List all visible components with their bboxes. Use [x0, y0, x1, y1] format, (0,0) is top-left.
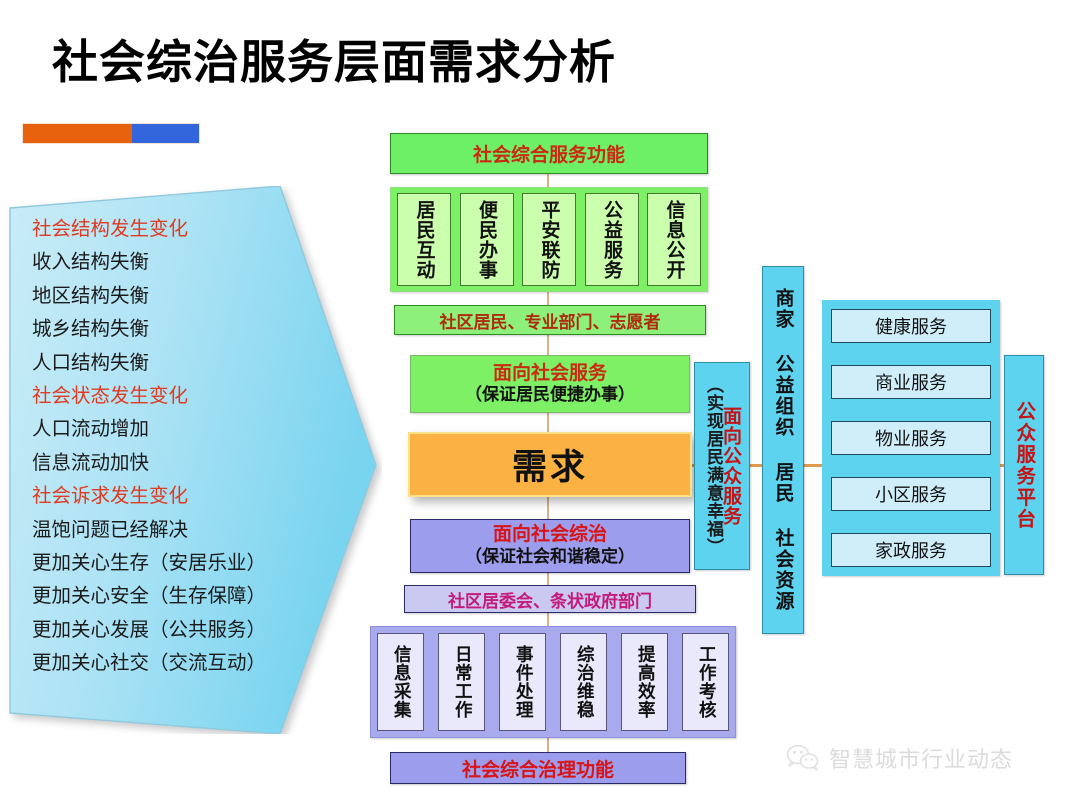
- governance-function-label: 提高效率: [636, 645, 654, 719]
- governance-function-cell[interactable]: 信息采集: [377, 633, 424, 731]
- governance-functions-band: 信息采集 日常工作 事件处理 综治维稳 提高效率 工作考核: [370, 626, 736, 738]
- governance-footer-box: 社会综合治理功能: [390, 752, 686, 784]
- resources-box: 商家 公益组织 居民 社会资源: [762, 266, 804, 634]
- wechat-icon: [786, 744, 820, 772]
- driver-item: 地区结构失衡: [32, 279, 322, 312]
- service-header-box: 社会综合服务功能: [390, 133, 708, 174]
- demand-box: 需求: [408, 432, 692, 497]
- governance-function-label: 工作考核: [697, 645, 715, 719]
- watermark: 智慧城市行业动态: [786, 742, 1013, 774]
- driver-item: 信息流动加快: [32, 446, 322, 479]
- driver-item: 社会诉求发生变化: [32, 479, 322, 512]
- service-function-label: 居民互动: [415, 200, 434, 280]
- public-services-band: 健康服务 商业服务 物业服务 小区服务 家政服务: [822, 300, 1000, 576]
- driver-item: 更加关心安全（生存保障）: [32, 579, 322, 612]
- service-function-label: 信息公开: [665, 200, 684, 280]
- driver-item: 人口结构失衡: [32, 346, 322, 379]
- public-facing-subtitle: （实现居民满意幸福）: [704, 376, 721, 556]
- connector-vertical: [547, 174, 549, 188]
- connector-vertical: [547, 292, 549, 306]
- public-facing-box: 面向公众服务 （实现居民满意幸福）: [694, 362, 750, 570]
- governance-actors-box: 社区居委会、条状政府部门: [404, 585, 696, 613]
- driver-item: 人口流动增加: [32, 412, 322, 445]
- service-function-cell[interactable]: 便民办事: [460, 193, 514, 286]
- service-functions-band: 居民互动 便民办事 平安联防 公益服务 信息公开: [390, 187, 708, 292]
- connector-vertical: [547, 497, 549, 520]
- connector-vertical: [547, 738, 549, 753]
- governance-facing-title: 面向社会综治: [493, 523, 607, 547]
- accent-bar-blue: [132, 124, 199, 143]
- service-function-cell[interactable]: 平安联防: [522, 193, 576, 286]
- governance-facing-box: 面向社会综治 （保证社会和谐稳定）: [410, 519, 690, 573]
- governance-function-cell[interactable]: 工作考核: [682, 633, 729, 731]
- service-function-label: 便民办事: [477, 200, 496, 280]
- watermark-label: 智慧城市行业动态: [829, 742, 1013, 774]
- governance-function-cell[interactable]: 日常工作: [438, 633, 485, 731]
- drivers-arrow-panel: 社会结构发生变化 收入结构失衡 地区结构失衡 城乡结构失衡 人口结构失衡 社会状…: [2, 186, 382, 734]
- driver-item: 更加关心生存（安居乐业）: [32, 546, 322, 579]
- driver-item: 收入结构失衡: [32, 245, 322, 278]
- page-title: 社会综治服务层面需求分析: [52, 38, 616, 86]
- public-service-item[interactable]: 健康服务: [831, 309, 991, 343]
- accent-bar-orange: [23, 124, 132, 143]
- governance-function-cell[interactable]: 综治维稳: [560, 633, 607, 731]
- governance-function-label: 事件处理: [514, 645, 532, 719]
- driver-item: 温饱问题已经解决: [32, 513, 322, 546]
- governance-function-cell[interactable]: 提高效率: [621, 633, 668, 731]
- drivers-list: 社会结构发生变化 收入结构失衡 地区结构失衡 城乡结构失衡 人口结构失衡 社会状…: [32, 212, 322, 680]
- governance-facing-subtitle: （保证社会和谐稳定）: [465, 547, 635, 568]
- governance-function-cell[interactable]: 事件处理: [499, 633, 546, 731]
- service-facing-subtitle: （保证居民便捷办事）: [465, 385, 635, 407]
- service-function-cell[interactable]: 居民互动: [397, 193, 451, 286]
- connector-horizontal: [802, 464, 824, 467]
- governance-function-label: 综治维稳: [575, 645, 593, 719]
- driver-item: 更加关心社交（交流互动）: [32, 646, 322, 679]
- service-function-label: 公益服务: [602, 200, 621, 280]
- service-function-cell[interactable]: 公益服务: [585, 193, 639, 286]
- driver-item: 城乡结构失衡: [32, 312, 322, 345]
- service-facing-title: 面向社会服务: [493, 361, 607, 385]
- slide-canvas: 社会综治服务层面需求分析 社会结构发生变化 收入结构失衡 地区结构失衡 城: [0, 0, 1080, 810]
- accent-bar: [23, 124, 199, 143]
- public-platform-box: 公众服务平台: [1004, 355, 1044, 575]
- service-actors-box: 社区居民、专业部门、志愿者: [394, 305, 706, 335]
- driver-item: 社会结构发生变化: [32, 212, 322, 245]
- public-service-item[interactable]: 家政服务: [831, 533, 991, 567]
- service-function-cell[interactable]: 信息公开: [647, 193, 701, 286]
- public-service-item[interactable]: 物业服务: [831, 421, 991, 455]
- driver-item: 社会状态发生变化: [32, 379, 322, 412]
- resources-label: 商家 公益组织 居民 社会资源: [774, 288, 793, 612]
- connector-vertical: [547, 335, 549, 356]
- public-platform-label: 公众服务平台: [1014, 401, 1034, 530]
- governance-function-label: 信息采集: [392, 645, 410, 719]
- governance-function-label: 日常工作: [453, 645, 471, 719]
- service-function-label: 平安联防: [540, 200, 559, 280]
- driver-item: 更加关心发展（公共服务）: [32, 613, 322, 646]
- public-service-item[interactable]: 小区服务: [831, 477, 991, 511]
- service-facing-box: 面向社会服务 （保证居民便捷办事）: [410, 355, 690, 413]
- connector-vertical: [547, 613, 549, 627]
- public-service-item[interactable]: 商业服务: [831, 365, 991, 399]
- connector-vertical: [547, 413, 549, 433]
- public-facing-title: 面向公众服务: [721, 406, 740, 526]
